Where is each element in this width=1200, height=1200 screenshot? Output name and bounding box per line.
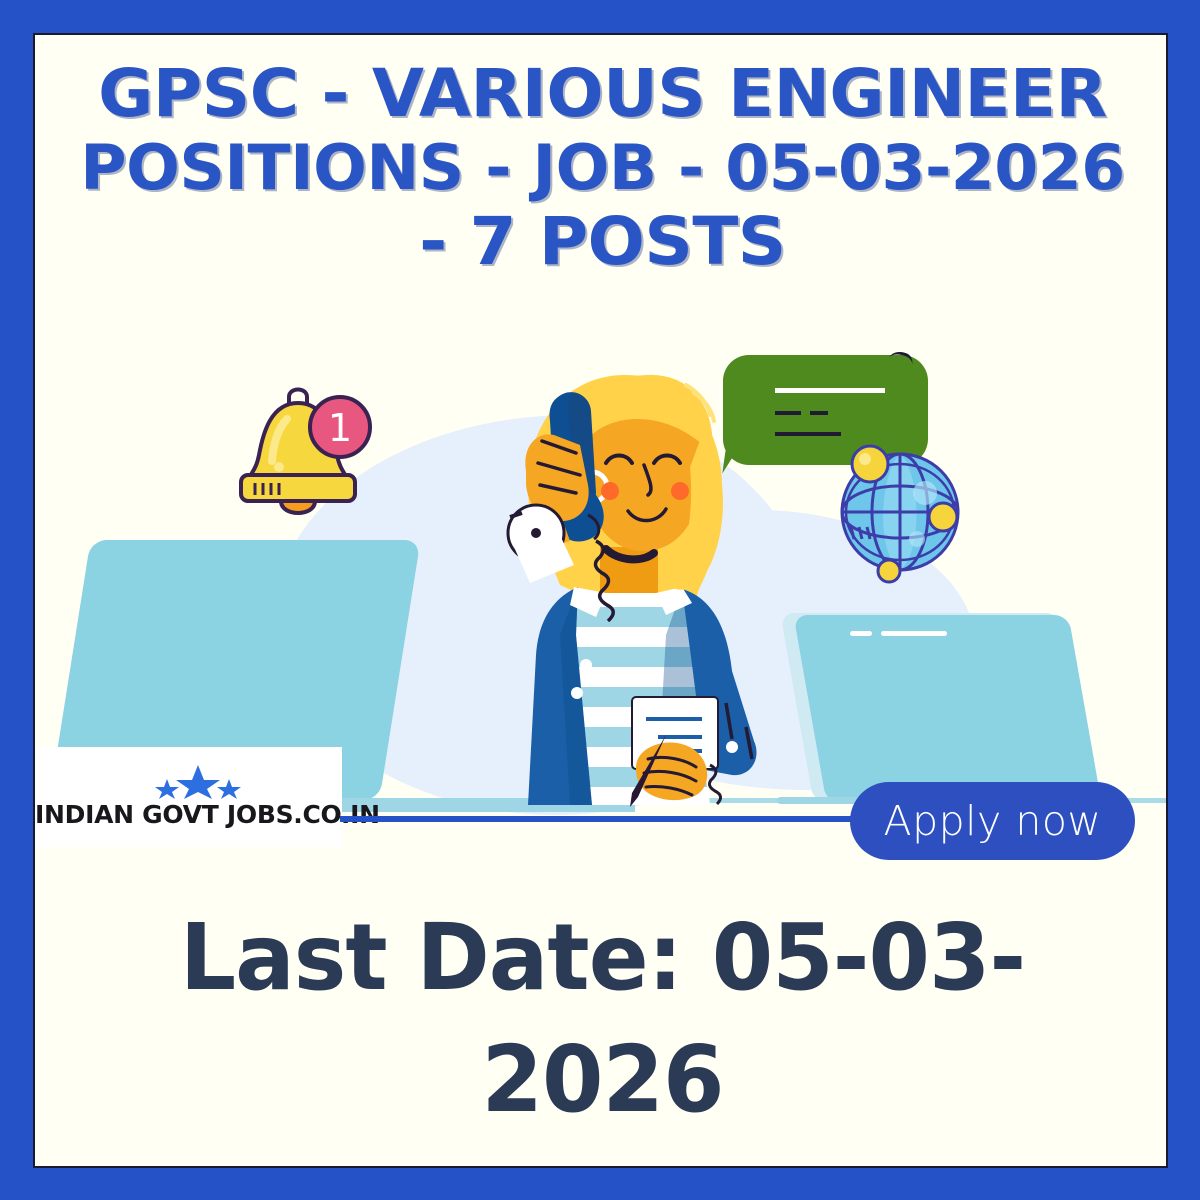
title-line-2: POSITIONS - JOB - 05-03-2026 (48, 131, 1157, 205)
title-line-1: GPSC - VARIOUS ENGINEER (48, 57, 1157, 131)
last-date-line-2: 2026 (115, 1019, 1089, 1141)
apply-now-button[interactable]: Apply now (850, 782, 1135, 860)
speech-bubble-line-3 (810, 411, 828, 415)
logo-stars (153, 765, 243, 799)
speech-bubble-line-2 (775, 411, 801, 415)
title-line-3: - 7 POSTS (48, 205, 1157, 279)
laptop-icon-right (793, 615, 1101, 803)
bell-icon: 1 (227, 375, 377, 515)
star-icon-small-right (217, 779, 241, 799)
poster-card: GPSC - VARIOUS ENGINEER POSITIONS - JOB … (33, 33, 1168, 1168)
last-date-block: Last Date: 05-03- 2026 (35, 897, 1168, 1141)
brand-name: INDIAN GOVT JOBS.CO.IN (35, 800, 342, 829)
laptop-screen-mark-1 (850, 631, 872, 636)
globe-icon (825, 435, 975, 585)
page-title: GPSC - VARIOUS ENGINEER POSITIONS - JOB … (35, 57, 1168, 279)
star-icon-large-center (176, 765, 220, 799)
star-icon-small-left (155, 779, 179, 799)
speech-bubble-line-1 (775, 388, 885, 393)
apply-now-label: Apply now (884, 797, 1102, 845)
divider-rule (340, 816, 856, 822)
bell-badge-count: 1 (328, 406, 352, 450)
last-date-line-1: Last Date: 05-03- (115, 897, 1089, 1019)
job-poster: GPSC - VARIOUS ENGINEER POSITIONS - JOB … (0, 0, 1200, 1200)
laptop-screen-mark-2 (881, 631, 947, 636)
